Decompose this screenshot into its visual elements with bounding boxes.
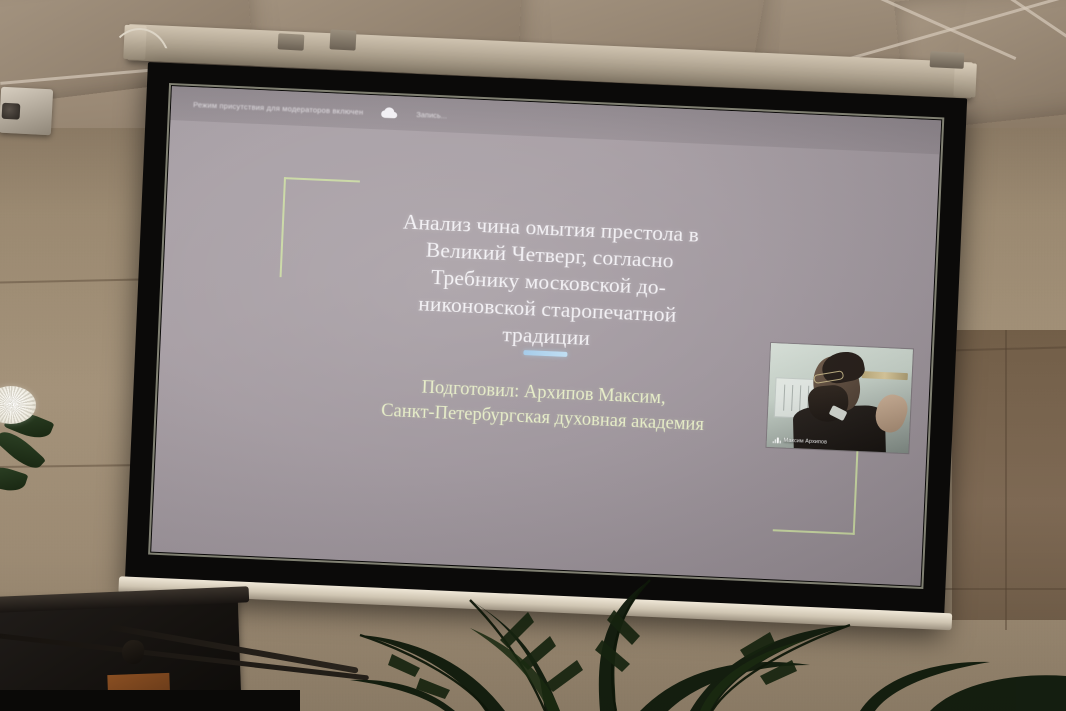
slide-content: Анализ чина омытия престола в Великий Че… (151, 120, 939, 586)
room-scene: Режим присутствия для модераторов включе… (0, 0, 1066, 711)
foreground-table-edge (0, 690, 300, 711)
cloud-recording-icon (381, 106, 399, 119)
ceiling-mount-bracket (278, 33, 305, 50)
ceiling-mount-bracket (930, 51, 965, 69)
projector (0, 87, 53, 136)
projection-screen: Режим присутствия для модераторов включе… (124, 62, 967, 628)
wall-right-panel (952, 330, 1066, 620)
slide-subtitle: Подготовил: Архипов Максим, Санкт-Петерб… (307, 370, 779, 440)
presence-status-text: Режим присутствия для модераторов включе… (193, 100, 364, 117)
projector-lens-icon (2, 103, 21, 120)
recording-label: Запись... (416, 109, 447, 119)
slide-surface: Режим присутствия для модераторов включе… (151, 86, 941, 586)
video-participant-tile[interactable]: Максим Архипов (766, 343, 912, 453)
wall-seam (945, 588, 1066, 590)
ceiling-mount-bracket (329, 29, 356, 50)
wall-seam (1005, 330, 1007, 630)
slide-divider (523, 350, 567, 357)
corner-bracket-bottom-right (773, 439, 859, 535)
slide-title: Анализ чина омытия престола в Великий Че… (331, 206, 767, 360)
microphone-level-icon (773, 437, 781, 443)
